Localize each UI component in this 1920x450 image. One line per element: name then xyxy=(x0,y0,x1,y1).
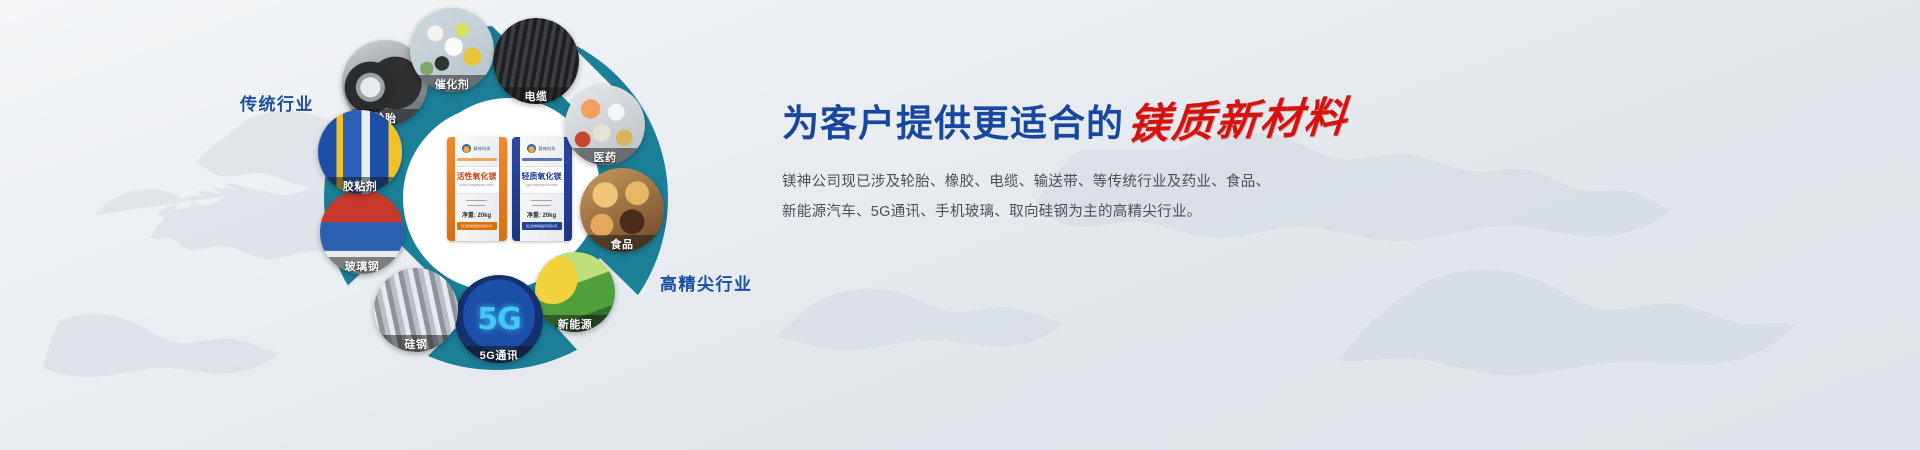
bubble-catalyst[interactable]: 催化剂 xyxy=(410,8,494,92)
bag-name-box: 活性氧化镁 Active Magnesium oxide xyxy=(454,166,500,194)
product-name-cn: 活性氧化镁 xyxy=(457,173,497,181)
product-bag-active-mgo: 镁神科技 活性氧化镁 Active Magnesium oxide ▬▬▬▬▬▬… xyxy=(447,137,507,241)
bubble-label: 新能源 xyxy=(535,315,615,332)
banner-stage: 镁神科技 活性氧化镁 Active Magnesium oxide ▬▬▬▬▬▬… xyxy=(0,0,1920,450)
bubble-adhesive[interactable]: 胶粘剂 xyxy=(318,110,402,194)
bubble-food[interactable]: 食品 xyxy=(580,168,664,252)
bag-name-box: 轻质氧化镁 Light Magnesium oxide xyxy=(519,166,565,194)
headline: 为客户提供更适合的 镁质新材料 xyxy=(782,100,1482,142)
bubble-label: 食品 xyxy=(580,235,664,252)
product-bag-light-mgo: 镁神科技 轻质氧化镁 Light Magnesium oxide ▬▬▬▬▬▬▬… xyxy=(512,137,572,241)
product-maker: 营口镁神科技股份有限公司 xyxy=(522,222,562,230)
bag-spec-text: ▬▬▬▬▬▬▬▬▬▬▬▬▬ xyxy=(520,198,564,207)
bag-edge-right xyxy=(499,137,507,241)
brand-logo: 镁神科技 xyxy=(462,144,490,153)
brand-mark-icon xyxy=(462,144,471,153)
bubble-silicon-steel[interactable]: 硅钢 xyxy=(374,268,458,352)
brand-name: 镁神科技 xyxy=(473,146,490,152)
bag-edge-left xyxy=(512,137,520,241)
banner-paragraph: 镁神公司现已涉及轮胎、橡胶、电缆、输送带、等传统行业及药业、食品、新能源汽车、5… xyxy=(782,168,1282,227)
product-name-en: Active Magnesium oxide xyxy=(459,183,494,187)
industry-diagram: 镁神科技 活性氧化镁 Active Magnesium oxide ▬▬▬▬▬▬… xyxy=(300,0,720,400)
brand-logo: 镁神科技 xyxy=(527,144,555,153)
bubble-label: 催化剂 xyxy=(410,75,494,92)
label-traditional-industries: 传统行业 xyxy=(240,90,314,115)
bubble-label: 胶粘剂 xyxy=(318,177,402,194)
product-net-weight: 净重: 20kg xyxy=(462,210,491,219)
label-advanced-industries: 高精尖行业 xyxy=(660,270,753,295)
bubble-pharmacy[interactable]: 医药 xyxy=(565,85,645,165)
bubble-label: 玻璃钢 xyxy=(320,257,404,274)
bubble-frp[interactable]: 玻璃钢 xyxy=(320,190,404,274)
product-name-en: Light Magnesium oxide xyxy=(525,183,558,187)
bag-spec-text: ▬▬▬▬▬▬▬▬▬▬▬▬▬ xyxy=(455,198,499,207)
headline-emphasis: 镁质新材料 xyxy=(1126,96,1351,146)
brand-name: 镁神科技 xyxy=(538,146,555,152)
bubble-new-energy[interactable]: 新能源 xyxy=(535,252,615,332)
bag-edge-left xyxy=(447,137,455,241)
banner-copy: 为客户提供更适合的 镁质新材料 镁神公司现已涉及轮胎、橡胶、电缆、输送带、等传统… xyxy=(782,100,1482,242)
bubble-5g[interactable]: 5G 5G通讯 xyxy=(455,275,543,363)
bubble-label: 硅钢 xyxy=(374,335,458,352)
brand-mark-icon xyxy=(527,144,536,153)
product-maker: 营口镁神科技股份有限公司 xyxy=(457,222,497,230)
product-net-weight: 净重: 20kg xyxy=(527,210,556,219)
bubble-label: 5G通讯 xyxy=(455,346,543,363)
bag-band xyxy=(522,158,562,161)
bag-band xyxy=(457,158,497,161)
product-name-cn: 轻质氧化镁 xyxy=(522,173,562,181)
bubble-label: 医药 xyxy=(565,148,645,165)
headline-prefix: 为客户提供更适合的 xyxy=(782,105,1124,142)
